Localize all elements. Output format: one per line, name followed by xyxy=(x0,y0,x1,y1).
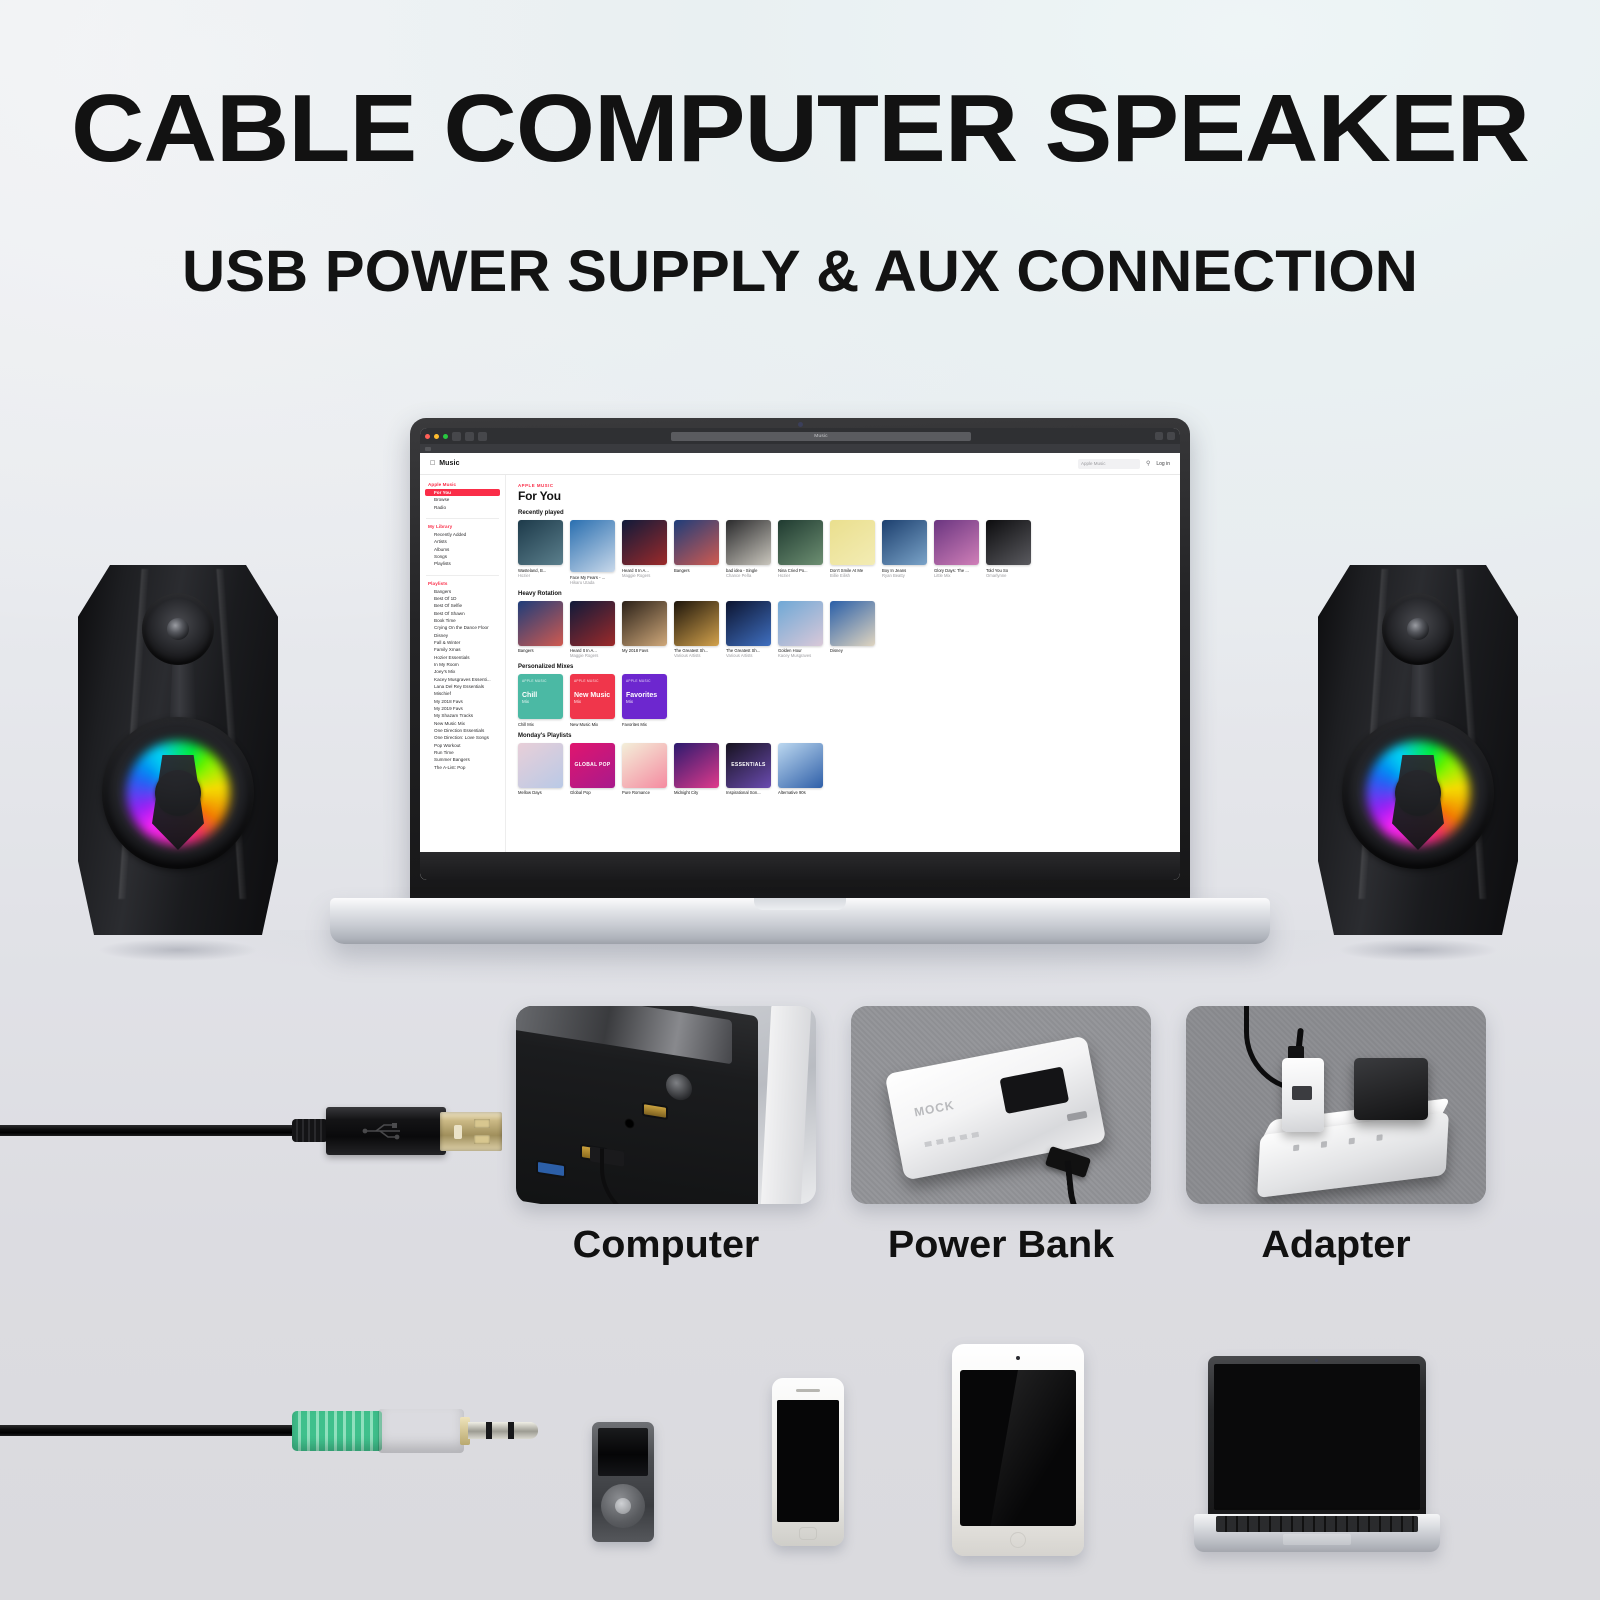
usb-strain-relief xyxy=(292,1119,328,1142)
playlist-title: Midnight City xyxy=(674,790,719,795)
laptop-screen: Music  Music Apple Music ⚲ xyxy=(420,428,1180,880)
mix-word: Mix xyxy=(626,699,663,704)
sidebar-item-my-2019-favs[interactable]: My 2019 Favs xyxy=(420,705,505,712)
sidebar-item-kacey-musgraves-essenti[interactable]: Kacey Musgraves Essenti... xyxy=(420,676,505,683)
adapter-black-brick xyxy=(1354,1058,1428,1120)
tweeter-driver xyxy=(1382,593,1454,665)
search-icon[interactable]: ⚲ xyxy=(1146,460,1150,467)
album-card[interactable]: Face My Fears - ...Hikaru Utada xyxy=(570,520,615,585)
usb-cable xyxy=(0,1095,470,1165)
sidebar-item-fall-winter[interactable]: Fall & Winter xyxy=(420,639,505,646)
tabs-icon[interactable] xyxy=(1167,432,1175,440)
album-card[interactable]: bad idea - SingleChance Peña xyxy=(726,520,771,585)
browser-toolbar: Music xyxy=(420,428,1180,444)
album-artwork[interactable] xyxy=(518,601,563,646)
section-title: Recently played xyxy=(518,510,1170,516)
album-artist: Chance Peña xyxy=(726,573,771,578)
power-source-cards: MOCK Computer xyxy=(516,1006,1486,1286)
album-artwork[interactable] xyxy=(986,520,1031,565)
tablet-home-button xyxy=(1010,1532,1026,1548)
playlist-card[interactable]: Alternative 90s xyxy=(778,743,823,796)
laptop-icon-screen xyxy=(1214,1364,1420,1510)
mix-eyebrow: APPLE MUSIC xyxy=(626,679,663,683)
album-artist: Maggie Rogers xyxy=(570,653,615,658)
sidebar-item-family-xmas[interactable]: Family Xmas xyxy=(420,646,505,653)
album-artist: Maggie Rogers xyxy=(622,573,667,578)
login-link[interactable]: Log in xyxy=(1156,461,1170,467)
playlist-title: Pure Romance xyxy=(622,790,667,795)
album-title: My 2018 Favs xyxy=(622,648,667,653)
adapter-photo-card xyxy=(1186,1006,1486,1204)
playlist-artwork xyxy=(518,743,563,788)
mix-artwork: APPLE MUSICChillMix xyxy=(518,674,563,719)
laptop-icon-base xyxy=(1194,1514,1440,1552)
mix-caption: Chill Mix xyxy=(518,722,563,727)
page-subtitle: USB POWER SUPPLY & AUX CONNECTION xyxy=(0,238,1600,305)
mix-card[interactable]: APPLE MUSICFavoritesMixFavorites Mix xyxy=(622,674,667,727)
sidebar-item-disney[interactable]: Disney xyxy=(420,632,505,639)
section-title: Heavy Rotation xyxy=(518,591,1170,597)
album-artwork[interactable] xyxy=(622,520,667,565)
playlist-artwork-label: GLOBAL POP xyxy=(570,762,615,768)
app-header-actions: Apple Music ⚲ Log in xyxy=(1078,459,1170,469)
app-body: Apple MusicFor YouBrowseRadioMy LibraryR… xyxy=(420,475,1180,880)
laptop-icon-lid xyxy=(1208,1356,1426,1518)
album-artwork[interactable] xyxy=(570,601,615,646)
laptop-mockup: Music  Music Apple Music ⚲ xyxy=(330,418,1270,948)
speaker-shadow xyxy=(68,937,288,963)
album-artist: Various Artists xyxy=(674,653,719,658)
laptop-base-notch xyxy=(754,898,846,910)
sidebar-item-book-time[interactable]: Book Time xyxy=(420,617,505,624)
mix-caption: Favorites Mix xyxy=(622,722,667,727)
album-row: Wasteland, B...HozierFace My Fears - ...… xyxy=(518,520,1170,585)
computer-photo-card xyxy=(516,1006,816,1204)
sidebar-item-run-time[interactable]: Run Time xyxy=(420,749,505,756)
app-header:  Music Apple Music ⚲ Log in xyxy=(420,453,1180,475)
pc-top-panel xyxy=(516,1006,732,1064)
minimize-icon[interactable] xyxy=(434,434,439,439)
mix-card[interactable]: APPLE MUSICNew MusicMixNew Music Mix xyxy=(570,674,615,727)
usb-trident-icon xyxy=(360,1121,412,1141)
aux-connector-body xyxy=(378,1409,464,1453)
album-artist: Hozier xyxy=(518,573,563,578)
album-card[interactable]: Wasteland, B...Hozier xyxy=(518,520,563,585)
tweeter-driver xyxy=(142,593,214,665)
laptop-icon-trackpad xyxy=(1283,1534,1351,1545)
usb-cable-wire xyxy=(0,1125,300,1136)
sidebar-item-best-of-shawn[interactable]: Best Of Shawn xyxy=(420,610,505,617)
sidebar-item-one-direction-love-songs[interactable]: One Direction: Love Songs xyxy=(420,734,505,741)
section-title: Monday's Playlists xyxy=(518,733,1170,739)
playlist-artwork xyxy=(674,743,719,788)
album-artwork[interactable] xyxy=(830,601,875,646)
speaker-body xyxy=(78,565,278,935)
aux-insulator-band xyxy=(508,1422,514,1439)
playlist-card[interactable]: Mellow Days xyxy=(518,743,563,796)
address-bar[interactable]: Music xyxy=(671,432,971,441)
album-card[interactable]: Boy In JeansRyan Beatty xyxy=(882,520,927,585)
power-bank-photo: MOCK xyxy=(851,1006,1151,1204)
sidebar-item-bangers[interactable]: Bangers xyxy=(420,588,505,595)
mp3-screen xyxy=(598,1428,648,1476)
album-artwork[interactable] xyxy=(726,601,771,646)
mp3-click-wheel xyxy=(601,1484,645,1528)
aux-grip-ribs xyxy=(292,1411,382,1451)
album-card[interactable]: The Greatest Sh...Various Artists xyxy=(726,601,771,659)
album-card[interactable]: Don't Smile At MeBillie Eilish xyxy=(830,520,875,585)
sidebar-item-summer-bangers[interactable]: Summer Bangers xyxy=(420,756,505,763)
sidebar-item-albums[interactable]: Albums xyxy=(420,546,505,553)
close-icon[interactable] xyxy=(425,434,430,439)
album-artwork[interactable] xyxy=(882,520,927,565)
app-logo-label: Music xyxy=(439,460,459,467)
usb-pin xyxy=(474,1135,490,1144)
mp3-player-icon xyxy=(592,1422,654,1542)
sidebar-item-one-direction-essentials[interactable]: One Direction Essentials xyxy=(420,727,505,734)
album-artist: Kacey Musgraves xyxy=(778,653,823,658)
album-artwork[interactable] xyxy=(830,520,875,565)
mix-row: APPLE MUSICChillMixChill MixAPPLE MUSICN… xyxy=(518,674,1170,727)
album-artist: Little Mix xyxy=(934,573,979,578)
socket-hole xyxy=(1376,1134,1382,1141)
search-placeholder: Apple Music xyxy=(1081,461,1106,466)
sidebar-item-best-of-selfie[interactable]: Best Of Selfie xyxy=(420,602,505,609)
mix-name: Favorites xyxy=(626,692,663,699)
tablet-icon xyxy=(952,1344,1084,1556)
laptop-base xyxy=(330,898,1270,944)
power-bank-brand: MOCK xyxy=(913,1098,956,1120)
laptop-chin xyxy=(420,852,1180,880)
sidebar-item-my-2018-favs[interactable]: My 2018 Favs xyxy=(420,698,505,705)
left-speaker xyxy=(58,565,298,955)
album-card[interactable]: My 2018 Favs xyxy=(622,601,667,659)
main-content: APPLE MUSIC For You Recently playedWaste… xyxy=(506,475,1180,880)
tablet-camera xyxy=(1016,1356,1020,1360)
tablet-screen-glare xyxy=(987,1370,1076,1526)
mix-artwork: APPLE MUSICNew MusicMix xyxy=(570,674,615,719)
usb-a-metal-plug xyxy=(440,1112,502,1151)
album-artist: Ryan Beatty xyxy=(882,573,927,578)
section-title: Personalized Mixes xyxy=(518,664,1170,670)
sidebar-item-radio[interactable]: Radio xyxy=(420,504,505,511)
sidebar-item-lana-del-rey-essentials[interactable]: Lana Del Rey Essentials xyxy=(420,683,505,690)
album-artist: Omarlynne xyxy=(986,573,1031,578)
power-bank-leds xyxy=(924,1132,980,1148)
speaker-shadow xyxy=(1308,937,1528,963)
adapter-label: Adapter xyxy=(1180,1224,1492,1267)
sidebar-group-title: Apple Music xyxy=(420,482,505,489)
album-card[interactable]: Bangers xyxy=(674,520,719,585)
album-card[interactable]: Heard It In A...Maggie Rogers xyxy=(570,601,615,659)
power-bank-label: Power Bank xyxy=(845,1224,1157,1267)
album-card[interactable]: Golden HourKacey Musgraves xyxy=(778,601,823,659)
mix-name: New Music xyxy=(574,692,611,699)
adapter-white-plug xyxy=(1282,1058,1324,1132)
album-card[interactable]: Told You SoOmarlynne xyxy=(986,520,1031,585)
laptop-icon xyxy=(1194,1356,1440,1552)
mix-word: Mix xyxy=(574,699,611,704)
album-title: Disney xyxy=(830,648,875,653)
mix-card[interactable]: APPLE MUSICChillMixChill Mix xyxy=(518,674,563,727)
laptop-icon-keyboard xyxy=(1216,1516,1418,1532)
sidebar-item-new-music-mix[interactable]: New Music Mix xyxy=(420,720,505,727)
tablet-screen xyxy=(960,1370,1076,1526)
aux-insulator-band xyxy=(486,1422,492,1439)
sidebar-item-in-my-room[interactable]: In My Room xyxy=(420,661,505,668)
laptop-bezel: Music  Music Apple Music ⚲ xyxy=(420,428,1180,880)
sidebar-group-title: My Library xyxy=(420,524,505,531)
power-bank-cable xyxy=(1065,1152,1151,1204)
album-card[interactable]: The Greatest Sh...Various Artists xyxy=(674,601,719,659)
apple-logo-icon:  xyxy=(430,460,435,467)
laptop-icon-camera xyxy=(1315,1359,1318,1362)
album-card[interactable]: Bangers xyxy=(518,601,563,659)
album-artwork[interactable] xyxy=(726,520,771,565)
album-card[interactable]: Nina Cried Po...Hozier xyxy=(778,520,823,585)
mix-eyebrow: APPLE MUSIC xyxy=(574,679,611,683)
sidebar-group: PlaylistsBangersBest Of 1DBest Of Selfie… xyxy=(420,581,505,771)
mix-name: Chill xyxy=(522,692,559,699)
usb-pin xyxy=(474,1119,490,1128)
socket-hole xyxy=(1321,1141,1327,1148)
computer-photo xyxy=(516,1006,816,1204)
sidebar-toggle-icon[interactable] xyxy=(478,432,487,441)
bookmark-bar xyxy=(420,444,1180,453)
mix-word: Mix xyxy=(522,699,559,704)
aux-cable-wire xyxy=(0,1425,300,1436)
mix-eyebrow: APPLE MUSIC xyxy=(522,679,559,683)
album-title: Bangers xyxy=(674,568,719,573)
album-title: Bangers xyxy=(518,648,563,653)
computer-label: Computer xyxy=(510,1224,822,1267)
playlist-card[interactable]: ESSENTIALSInspirational Son... xyxy=(726,743,771,796)
sidebar-item-joey-s-mix[interactable]: Joey's Mix xyxy=(420,668,505,675)
pc-white-edge xyxy=(760,1006,811,1204)
bookmark-item[interactable] xyxy=(425,447,431,451)
sidebar-divider xyxy=(426,575,499,576)
playlist-title: Global Pop xyxy=(570,790,615,795)
page-title: CABLE COMPUTER SPEAKER xyxy=(0,74,1600,184)
sidebar-item-recently-added[interactable]: Recently Added xyxy=(420,531,505,538)
mix-caption: New Music Mix xyxy=(570,722,615,727)
album-artwork[interactable] xyxy=(674,520,719,565)
power-bank-photo-card: MOCK xyxy=(851,1006,1151,1204)
section-eyebrow: APPLE MUSIC xyxy=(518,483,1170,488)
album-artwork[interactable] xyxy=(778,601,823,646)
playlist-title: Alternative 90s xyxy=(778,790,823,795)
content-sections: Recently playedWasteland, B...HozierFace… xyxy=(518,510,1170,795)
adapter-photo xyxy=(1186,1006,1486,1204)
maximize-icon[interactable] xyxy=(443,434,448,439)
album-card[interactable]: Heard It In A...Maggie Rogers xyxy=(622,520,667,585)
album-artwork[interactable] xyxy=(674,601,719,646)
socket-hole xyxy=(1349,1138,1355,1145)
back-icon[interactable] xyxy=(452,432,461,441)
power-bank-display xyxy=(999,1066,1069,1114)
sidebar[interactable]: Apple MusicFor YouBrowseRadioMy LibraryR… xyxy=(420,475,506,880)
album-artwork[interactable] xyxy=(778,520,823,565)
power-bank-micro-port xyxy=(1067,1111,1088,1122)
playlist-title: Mellow Days xyxy=(518,790,563,795)
share-icon[interactable] xyxy=(1155,432,1163,440)
album-row: BangersHeard It In A...Maggie RogersMy 2… xyxy=(518,601,1170,659)
sidebar-group: Apple MusicFor YouBrowseRadio xyxy=(420,482,505,511)
smartphone-icon xyxy=(772,1378,844,1546)
album-artist: Various Artists xyxy=(726,653,771,658)
album-artist: Hozier xyxy=(778,573,823,578)
album-artwork[interactable] xyxy=(934,520,979,565)
speaker-body xyxy=(1318,565,1518,935)
album-artist: Billie Eilish xyxy=(830,573,875,578)
mp3-wheel-center xyxy=(615,1498,631,1514)
sidebar-group-title: Playlists xyxy=(420,581,505,588)
address-bar-text: Music xyxy=(814,433,828,439)
right-speaker xyxy=(1298,565,1538,955)
playlist-artwork: GLOBAL POP xyxy=(570,743,615,788)
laptop-lid: Music  Music Apple Music ⚲ xyxy=(410,418,1190,908)
sidebar-group: My LibraryRecently AddedArtistsAlbumsSon… xyxy=(420,524,505,568)
sidebar-item-playlists[interactable]: Playlists xyxy=(420,560,505,567)
playlist-title: Inspirational Son... xyxy=(726,790,771,795)
album-card[interactable]: Disney xyxy=(830,601,875,659)
album-artist: Hikaru Utada xyxy=(570,580,615,585)
forward-icon[interactable] xyxy=(465,432,474,441)
aux-trs-tip xyxy=(468,1422,538,1439)
mix-artwork: APPLE MUSICFavoritesMix xyxy=(622,674,667,719)
playlist-card[interactable]: Pure Romance xyxy=(622,743,667,796)
compatible-devices xyxy=(560,1318,1570,1586)
webcam-icon xyxy=(798,422,803,427)
sidebar-divider xyxy=(426,518,499,519)
sidebar-item-hozier-essentials[interactable]: Hozier Essentials xyxy=(420,654,505,661)
sidebar-item-for-you[interactable]: For You xyxy=(425,489,500,496)
playlist-card[interactable]: GLOBAL POPGlobal Pop xyxy=(570,743,615,796)
album-artwork[interactable] xyxy=(622,601,667,646)
playlist-row: Mellow DaysGLOBAL POPGlobal PopPure Roma… xyxy=(518,743,1170,796)
playlist-artwork-label: ESSENTIALS xyxy=(726,762,771,768)
playlist-artwork xyxy=(778,743,823,788)
socket-hole xyxy=(1293,1144,1299,1151)
playlist-artwork: ESSENTIALS xyxy=(726,743,771,788)
aux-cable xyxy=(0,1405,540,1465)
sidebar-item-crying-on-the-dance-floor[interactable]: Crying On the Dance Floor xyxy=(420,624,505,631)
sidebar-item-browse[interactable]: Browse xyxy=(420,496,505,503)
sidebar-item-songs[interactable]: Songs xyxy=(420,553,505,560)
sidebar-item-my-shazam-tracks[interactable]: My Shazam Tracks xyxy=(420,712,505,719)
phone-home-button xyxy=(799,1527,817,1540)
phone-earpiece xyxy=(796,1389,820,1392)
sidebar-item-artists[interactable]: Artists xyxy=(420,538,505,545)
usb-connector-shell xyxy=(326,1107,446,1155)
usb-plug-slot xyxy=(454,1125,462,1139)
for-you-title: For You xyxy=(518,489,1170,503)
search-input[interactable]: Apple Music xyxy=(1078,459,1140,469)
album-artwork[interactable] xyxy=(518,520,563,565)
sidebar-item-pop-workout[interactable]: Pop Workout xyxy=(420,742,505,749)
album-artwork[interactable] xyxy=(570,520,615,572)
adapter-label xyxy=(1292,1086,1312,1100)
playlist-card[interactable]: Midnight City xyxy=(674,743,719,796)
playlist-artwork xyxy=(622,743,667,788)
album-card[interactable]: Glory Days: The ...Little Mix xyxy=(934,520,979,585)
sidebar-item-mischief[interactable]: Mischief xyxy=(420,690,505,697)
sidebar-item-best-of-1d[interactable]: Best Of 1D xyxy=(420,595,505,602)
phone-screen xyxy=(777,1400,839,1522)
sidebar-item-the-a-list-pop[interactable]: The A-List: Pop xyxy=(420,764,505,771)
